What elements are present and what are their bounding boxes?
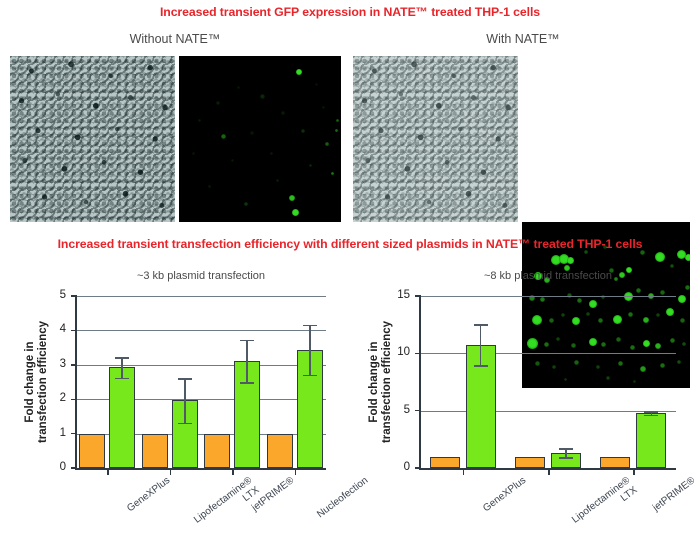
chart-3kb-y-axis — [75, 295, 77, 469]
chart-3kb-x-tick-1 — [170, 470, 172, 475]
figure-title-bottom: Increased transient transfection efficie… — [0, 237, 700, 251]
chart-3kb-error-cap-bottom-2 — [240, 382, 254, 384]
chart-3kb-error-cap-bottom-0 — [115, 378, 129, 380]
chart-8kb-y-axis-label: Fold change intransfection efficiency — [368, 296, 394, 468]
chart-8kb-y-axis — [419, 295, 421, 469]
figure-title-top: Increased transient GFP expression in NA… — [0, 5, 700, 19]
chart-3kb-error-cap-top-2 — [240, 340, 254, 342]
chart-8kb-y-tick-label: 0 — [390, 462, 410, 474]
chart-8kb-y-tick-label: 15 — [390, 290, 410, 302]
chart-3kb-error-cap-bottom-3 — [303, 375, 317, 377]
chart-8kb-x-tick-0 — [463, 470, 465, 475]
gfp-cell-spot — [322, 106, 325, 109]
chart-3kb-gridline — [76, 330, 326, 331]
gfp-cell-spot — [655, 252, 665, 262]
chart-8kb-x-tick-label-line: GeneXPlus — [481, 475, 528, 515]
chart-3kb-x-tick-2 — [232, 470, 234, 475]
chart-3kb-x-tick-3 — [295, 470, 297, 475]
gfp-cell-spot — [260, 94, 265, 99]
brightfield-micrograph-with-nate — [353, 56, 518, 222]
chart-8kb-y-axis-label-line2: transfection efficiency — [381, 296, 394, 468]
chart-3kb-bar-untreated-3[interactable] — [267, 434, 293, 468]
chart-8kb-x-tick-label-1: Lipofectamine®LTX — [570, 475, 639, 535]
chart-3kb-y-tick-label: 4 — [46, 324, 66, 336]
gfp-cell-spot — [237, 86, 240, 89]
chart-3kb-error-cap-bottom-1 — [178, 423, 192, 425]
chart-3kb-error-cap-top-3 — [303, 325, 317, 327]
gfp-cell-spot — [336, 119, 339, 122]
gfp-cell-spot — [292, 209, 299, 216]
gfp-cell-spot — [276, 179, 279, 182]
chart-8kb-error-cap-bottom-1 — [559, 457, 573, 459]
gfp-cell-spot — [331, 172, 334, 175]
gfp-cell-spot — [325, 142, 329, 146]
chart-8kb-right-tick — [671, 411, 676, 412]
micrograph-caption-without-nate: Without NATE™ — [10, 32, 340, 46]
gfp-fluorescence-micrograph-without-nate — [179, 56, 341, 222]
gfp-cell-spot — [567, 257, 574, 264]
chart-8kb-title: ~8 kb plasmid transfection — [420, 270, 676, 282]
chart-8kb-gridline — [420, 353, 676, 354]
gfp-cell-spot — [216, 101, 220, 105]
chart-8kb-error-cap-top-0 — [474, 324, 488, 326]
gfp-cell-spot — [685, 254, 690, 261]
chart-3kb-right-tick — [321, 296, 326, 297]
chart-3kb-error-bar-2 — [246, 340, 248, 383]
chart-8kb-y-tick-label: 10 — [390, 347, 410, 359]
gfp-cell-spot — [208, 185, 211, 188]
chart-8kb-error-cap-top-2 — [644, 411, 658, 413]
chart-8kb-x-tick-label-line: jetPRIME® — [651, 475, 698, 514]
chart-8kb-x-tick-2 — [633, 470, 635, 475]
chart-3kb-bar-untreated-0[interactable] — [79, 434, 105, 468]
gfp-cell-spot — [270, 152, 273, 155]
chart-8kb-x-tick-label-0: GeneXPlus — [481, 475, 528, 515]
chart-3kb-error-bar-0 — [121, 357, 123, 378]
chart-8kb-bar-treated-2[interactable] — [636, 413, 666, 468]
chart-8kb-error-cap-top-1 — [559, 448, 573, 450]
chart-8kb-y-axis-label-line1: Fold change in — [368, 296, 381, 468]
chart-3kb-y-axis-label-line1: Fold change in — [24, 296, 37, 468]
gfp-cell-spot — [281, 111, 285, 115]
brightfield-micrograph-without-nate — [10, 56, 175, 222]
gfp-cell-spot — [231, 159, 234, 162]
micrograph-caption-with-nate: With NATE™ — [353, 32, 693, 46]
gfp-cell-spot — [198, 119, 201, 122]
chart-3kb-bar-untreated-2[interactable] — [204, 434, 230, 468]
chart-3kb-title: ~3 kb plasmid transfection — [76, 270, 326, 282]
chart-3kb-right-tick — [321, 330, 326, 331]
chart-3kb-error-bar-1 — [184, 378, 186, 422]
gfp-cell-spot — [250, 131, 254, 135]
gfp-cell-spot — [296, 69, 302, 75]
chart-3kb-y-tick-label: 5 — [46, 290, 66, 302]
chart-3kb-gridline — [76, 365, 326, 366]
chart-3kb-bar-untreated-1[interactable] — [142, 434, 168, 468]
chart-3kb-error-bar-3 — [309, 325, 311, 375]
chart-8kb-gridline — [420, 411, 676, 412]
gfp-cell-spot — [192, 152, 195, 155]
chart-3kb-x-tick-0 — [107, 470, 109, 475]
chart-8kb-error-cap-bottom-2 — [644, 415, 658, 417]
chart-3kb-y-tick-label: 1 — [46, 428, 66, 440]
chart-8kb-right-tick — [671, 296, 676, 297]
gfp-cell-spot — [315, 83, 318, 86]
chart-3kb-error-cap-top-1 — [178, 378, 192, 380]
chart-8kb-y-tick-label: 5 — [390, 405, 410, 417]
chart-3kb-x-tick-label-0: GeneXPlus — [125, 475, 172, 515]
chart-3kb-plasmid-transfection: ~3 kb plasmid transfectionFold change in… — [14, 266, 344, 537]
chart-3kb-x-tick-label-line: GeneXPlus — [125, 475, 172, 515]
chart-8kb-plasmid-transfection: ~8 kb plasmid transfectionFold change in… — [358, 266, 694, 537]
chart-8kb-x-tick-label-2: jetPRIME® — [651, 475, 698, 514]
chart-3kb-y-tick-label: 0 — [46, 462, 66, 474]
gfp-cell-spot — [244, 202, 248, 206]
chart-3kb-x-axis — [75, 468, 326, 470]
chart-8kb-x-tick-1 — [548, 470, 550, 475]
chart-8kb-error-cap-bottom-0 — [474, 365, 488, 367]
chart-8kb-right-tick — [671, 353, 676, 354]
chart-8kb-gridline — [420, 296, 676, 297]
chart-3kb-y-tick-label: 2 — [46, 393, 66, 405]
figure-root: Increased transient GFP expression in NA… — [0, 0, 700, 537]
chart-8kb-bar-untreated-1[interactable] — [515, 457, 545, 468]
chart-8kb-error-bar-0 — [480, 324, 482, 365]
chart-8kb-bar-untreated-2[interactable] — [600, 457, 630, 468]
chart-3kb-bar-treated-0[interactable] — [109, 367, 135, 468]
chart-8kb-bar-untreated-0[interactable] — [430, 457, 460, 468]
chart-3kb-y-axis-label: Fold change intransfection efficiency — [24, 296, 50, 468]
chart-3kb-y-axis-label-line2: transfection efficiency — [37, 296, 50, 468]
chart-3kb-y-tick-label: 3 — [46, 359, 66, 371]
chart-3kb-error-cap-top-0 — [115, 357, 129, 359]
gfp-cell-spot — [309, 164, 312, 167]
gfp-cell-spot — [301, 129, 305, 133]
gfp-cell-spot — [221, 134, 226, 139]
gfp-cell-spot — [289, 195, 295, 201]
chart-3kb-gridline — [76, 296, 326, 297]
gfp-cell-spot — [335, 129, 338, 132]
